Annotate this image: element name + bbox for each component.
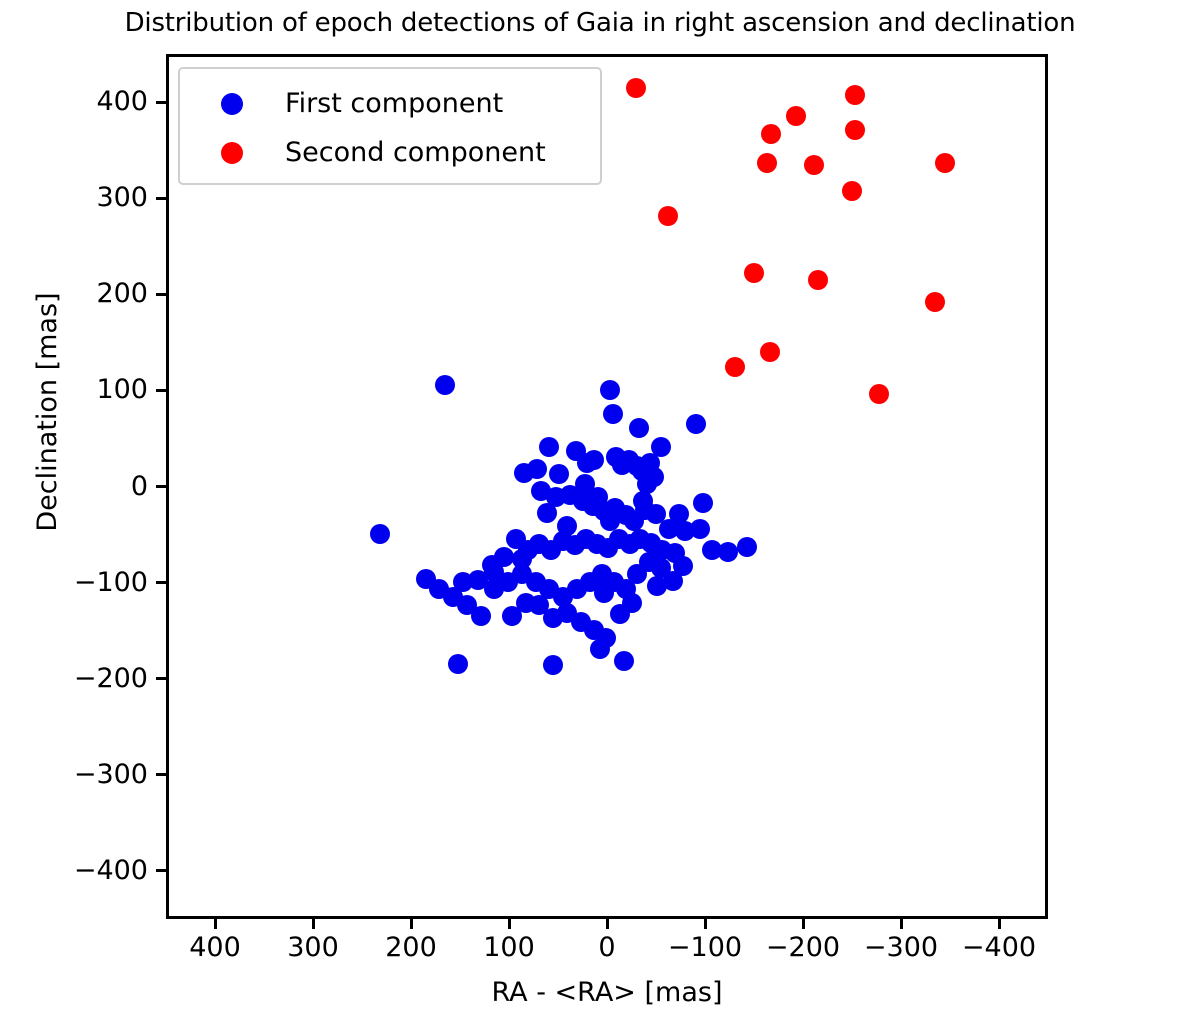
data-point <box>935 153 955 173</box>
data-point <box>744 263 764 283</box>
y-axis-tick <box>156 293 166 296</box>
data-point <box>537 503 557 523</box>
data-point <box>725 357 745 377</box>
data-point <box>512 549 532 569</box>
x-axis-tick <box>214 919 217 929</box>
data-point <box>693 493 713 513</box>
y-axis-tick-label: −300 <box>74 759 148 791</box>
x-axis-tick-label: 300 <box>287 932 339 964</box>
scatter-plot-figure: Distribution of epoch detections of Gaia… <box>0 0 1200 1025</box>
data-point <box>600 511 620 531</box>
legend-marker-icon <box>221 142 243 164</box>
data-point <box>606 447 626 467</box>
data-point <box>690 519 710 539</box>
x-axis-tick-label: −100 <box>668 932 742 964</box>
data-point <box>629 418 649 438</box>
data-point <box>622 593 642 613</box>
data-point <box>471 606 491 626</box>
page-title: Distribution of epoch detections of Gaia… <box>0 6 1200 40</box>
y-axis-tick <box>156 197 166 200</box>
data-point <box>845 85 865 105</box>
y-axis-tick-label: −200 <box>74 663 148 695</box>
y-axis-label: Declination [mas] <box>32 152 64 672</box>
x-axis-tick <box>606 919 609 929</box>
data-point <box>737 537 757 557</box>
y-axis-tick <box>156 773 166 776</box>
data-point <box>686 414 706 434</box>
data-point <box>808 270 828 290</box>
legend-marker-icon <box>221 93 243 115</box>
data-point <box>869 384 889 404</box>
y-axis-tick <box>156 581 166 584</box>
x-axis-tick <box>998 919 1001 929</box>
data-point <box>543 655 563 675</box>
y-axis-tick <box>156 389 166 392</box>
x-axis-tick <box>312 919 315 929</box>
data-point <box>370 524 390 544</box>
data-point <box>448 654 468 674</box>
x-axis-tick-label: 0 <box>598 932 615 964</box>
legend: First component Second component <box>178 67 602 185</box>
data-point <box>435 375 455 395</box>
y-axis-tick <box>156 677 166 680</box>
data-point <box>590 639 610 659</box>
data-point <box>673 556 693 576</box>
y-axis-tick-label: −400 <box>74 855 148 887</box>
y-axis-tick-label: 200 <box>96 278 148 310</box>
data-point <box>614 651 634 671</box>
y-axis-tick <box>156 101 166 104</box>
data-point <box>718 542 738 562</box>
x-axis-tick-label: 400 <box>189 932 241 964</box>
data-point <box>557 516 577 536</box>
x-axis-tick <box>410 919 413 929</box>
x-axis-tick <box>704 919 707 929</box>
data-point <box>594 583 614 603</box>
data-point <box>514 463 534 483</box>
data-point <box>566 441 586 461</box>
x-axis-tick-label: 200 <box>385 932 437 964</box>
x-axis-tick-label: −300 <box>864 932 938 964</box>
y-axis-tick-label: −100 <box>74 567 148 599</box>
x-axis-tick-label: −200 <box>766 932 840 964</box>
x-axis-tick <box>508 919 511 929</box>
data-point <box>804 155 824 175</box>
y-axis-tick-label: 100 <box>96 374 148 406</box>
data-point <box>761 124 781 144</box>
legend-item-label: First component <box>285 89 503 119</box>
data-point <box>760 342 780 362</box>
data-point <box>502 606 522 626</box>
scatter-points-layer <box>169 57 1045 916</box>
x-axis-tick <box>900 919 903 929</box>
data-point <box>647 576 667 596</box>
data-point <box>845 120 865 140</box>
legend-item-label: Second component <box>285 138 546 168</box>
y-axis-tick <box>156 485 166 488</box>
y-axis-tick-label: 300 <box>96 182 148 214</box>
data-point <box>925 292 945 312</box>
data-point <box>786 106 806 126</box>
legend-item-second-component: Second component <box>180 128 600 177</box>
data-point <box>626 78 646 98</box>
data-point <box>842 181 862 201</box>
data-point <box>603 404 623 424</box>
data-point <box>757 153 777 173</box>
data-point <box>600 380 620 400</box>
y-axis-tick-label: 0 <box>131 471 148 503</box>
data-point <box>658 206 678 226</box>
y-axis-tick <box>156 869 166 872</box>
x-axis-tick <box>802 919 805 929</box>
legend-item-first-component: First component <box>180 79 600 128</box>
data-point <box>575 474 595 494</box>
x-axis-tick-label: −400 <box>962 932 1036 964</box>
data-point <box>549 464 569 484</box>
data-point <box>539 437 559 457</box>
x-axis-tick-label: 100 <box>483 932 535 964</box>
x-axis-label: RA - <RA> [mas] <box>166 977 1048 1009</box>
y-axis-tick-label: 400 <box>96 86 148 118</box>
